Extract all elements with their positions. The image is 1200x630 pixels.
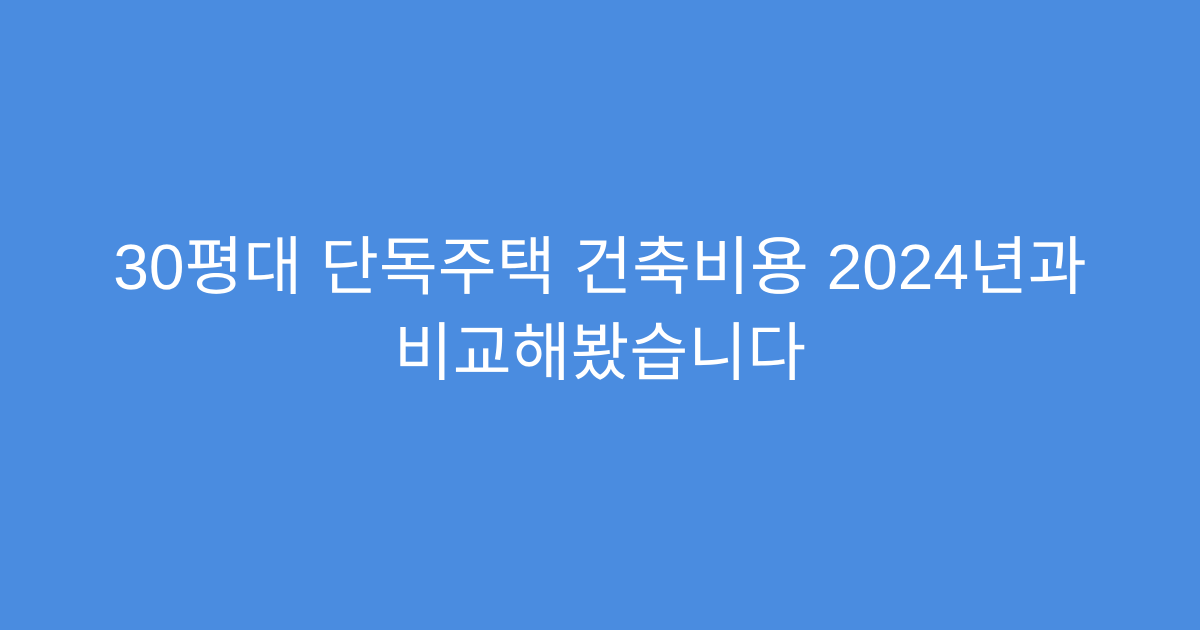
thumbnail-card: 30평대 단독주택 건축비용 2024년과 비교해봤습니다 bbox=[0, 0, 1200, 630]
page-title: 30평대 단독주택 건축비용 2024년과 비교해봤습니다 bbox=[0, 224, 1200, 396]
